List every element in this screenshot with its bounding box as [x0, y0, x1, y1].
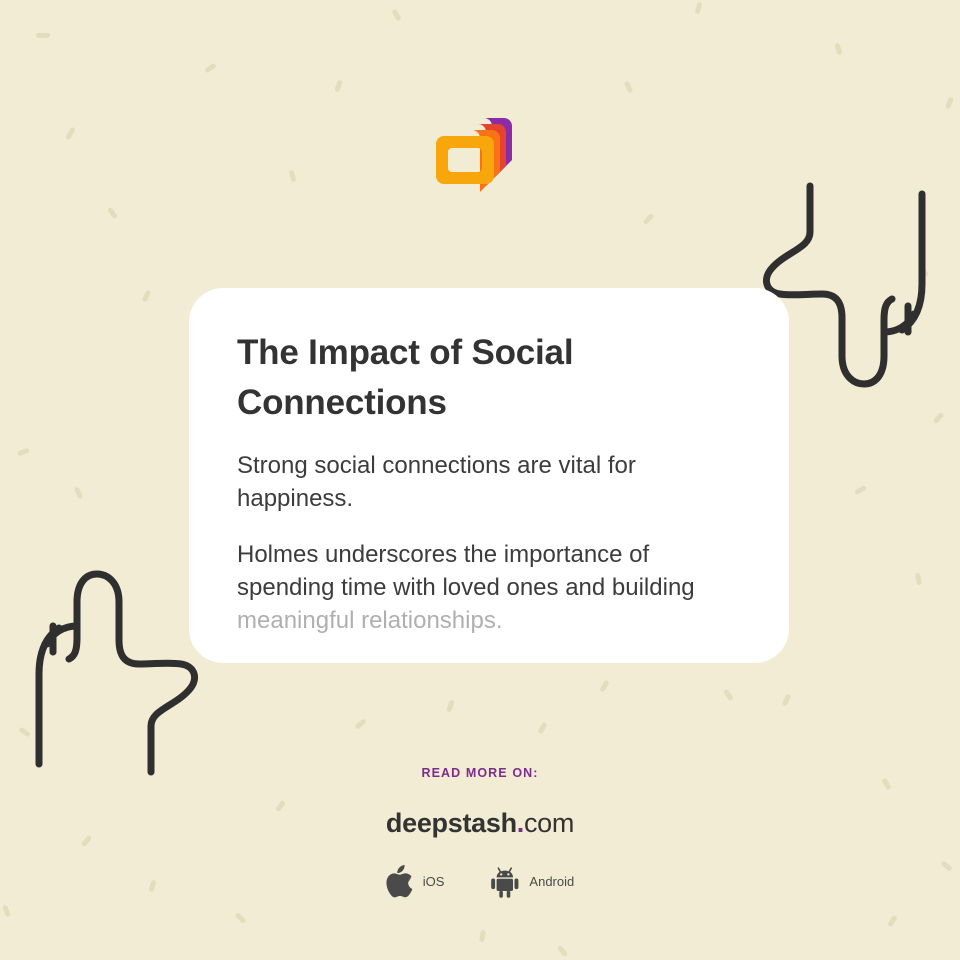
- apple-icon: [386, 865, 414, 898]
- brand-name: deepstash: [386, 808, 517, 838]
- ios-label: iOS: [423, 874, 445, 889]
- ios-store-link[interactable]: iOS: [386, 865, 445, 898]
- footer: READ MORE ON: deepstash.com iOS: [0, 766, 960, 898]
- background-speck: [479, 930, 486, 943]
- background-speck: [723, 689, 734, 702]
- background-speck: [391, 9, 401, 22]
- background-speck: [36, 33, 50, 38]
- read-more-label: READ MORE ON:: [0, 766, 960, 780]
- background-speck: [2, 905, 11, 918]
- background-speck: [834, 43, 842, 56]
- background-speck: [695, 2, 703, 15]
- deepstash-logo-icon: [430, 104, 518, 196]
- poster-canvas: The Impact of Social Connections Strong …: [0, 0, 960, 960]
- background-speck: [289, 170, 297, 183]
- card-paragraph-2-faded-tail: meaningful relationships.: [237, 607, 503, 634]
- pointing-hand-bottom-left-icon: [27, 566, 199, 778]
- background-speck: [142, 290, 152, 303]
- brand-dot: .: [517, 808, 524, 838]
- background-speck: [557, 945, 569, 957]
- background-speck: [354, 718, 366, 730]
- background-speck: [334, 80, 343, 93]
- background-speck: [887, 915, 898, 928]
- background-speck: [17, 448, 30, 457]
- brand-wordmark[interactable]: deepstash.com: [0, 808, 960, 839]
- background-speck: [782, 694, 792, 707]
- card-paragraph-1: Strong social connections are vital for …: [237, 449, 741, 515]
- background-speck: [234, 912, 246, 924]
- brand-tld: com: [524, 808, 574, 838]
- idea-card: The Impact of Social Connections Strong …: [189, 288, 789, 663]
- card-paragraph-2: Holmes underscores the importance of spe…: [237, 538, 741, 637]
- android-store-link[interactable]: Android: [490, 866, 574, 898]
- android-icon: [490, 866, 520, 898]
- background-speck: [65, 127, 76, 141]
- android-label: Android: [529, 874, 574, 889]
- background-speck: [537, 722, 547, 735]
- background-speck: [599, 680, 609, 693]
- card-paragraph-2-text: Holmes underscores the importance of spe…: [237, 541, 695, 601]
- background-speck: [74, 487, 84, 500]
- background-speck: [204, 63, 217, 74]
- background-speck: [854, 485, 867, 495]
- background-speck: [933, 412, 945, 424]
- background-speck: [915, 573, 922, 586]
- background-speck: [446, 700, 454, 713]
- app-store-row: iOS: [0, 865, 960, 898]
- card-title: The Impact of Social Connections: [237, 328, 741, 427]
- background-speck: [945, 97, 954, 110]
- background-speck: [624, 81, 634, 94]
- logo-layer-amber: [436, 136, 494, 184]
- background-speck: [107, 207, 118, 220]
- background-speck: [642, 213, 654, 225]
